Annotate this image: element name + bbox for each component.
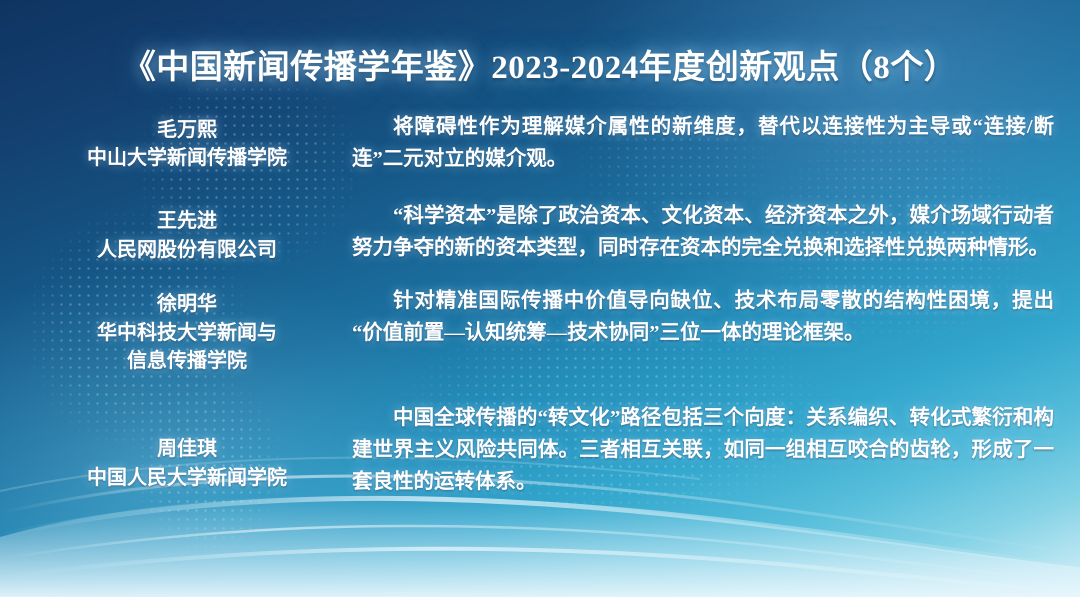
entry-row: 毛万熙 中山大学新闻传播学院 将障碍性作为理解媒介属性的新维度，替代以连接性为主… — [22, 112, 1054, 175]
entries-list: 毛万熙 中山大学新闻传播学院 将障碍性作为理解媒介属性的新维度，替代以连接性为主… — [0, 112, 1080, 504]
author-name: 王先进 — [22, 207, 352, 235]
author-name: 毛万熙 — [22, 116, 352, 144]
author-block: 徐明华 华中科技大学新闻与 信息传播学院 — [22, 286, 352, 375]
viewpoint-text: 将障碍性作为理解媒介属性的新维度，替代以连接性为主导或“连接/断连”二元对立的媒… — [352, 112, 1054, 175]
author-name: 徐明华 — [22, 290, 352, 318]
author-block: 周佳琪 中国人民大学新闻学院 — [22, 403, 352, 492]
author-block: 毛万熙 中山大学新闻传播学院 — [22, 112, 352, 173]
slide-title: 《中国新闻传播学年鉴》2023-2024年度创新观点（8个） — [0, 40, 1080, 88]
author-affiliation: 中山大学新闻传播学院 — [22, 144, 352, 172]
author-affiliation: 信息传播学院 — [22, 347, 352, 375]
entry-row: 徐明华 华中科技大学新闻与 信息传播学院 针对精准国际传播中价值导向缺位、技术布… — [22, 286, 1054, 375]
author-affiliation: 中国人民大学新闻学院 — [22, 464, 352, 492]
entry-row: 周佳琪 中国人民大学新闻学院 中国全球传播的“转文化”路径包括三个向度：关系编织… — [22, 403, 1054, 498]
author-affiliation: 人民网股份有限公司 — [22, 236, 352, 264]
viewpoint-text: 针对精准国际传播中价值导向缺位、技术布局零散的结构性困境，提出“价值前置—认知统… — [352, 286, 1054, 349]
author-block: 王先进 人民网股份有限公司 — [22, 201, 352, 264]
presentation-slide: 《中国新闻传播学年鉴》2023-2024年度创新观点（8个） 毛万熙 中山大学新… — [0, 0, 1080, 597]
author-affiliation: 华中科技大学新闻与 — [22, 319, 352, 347]
author-name: 周佳琪 — [22, 435, 352, 463]
viewpoint-text: 中国全球传播的“转文化”路径包括三个向度：关系编织、转化式繁衍和构建世界主义风险… — [352, 403, 1054, 498]
viewpoint-text: “科学资本”是除了政治资本、文化资本、经济资本之外，媒介场域行动者努力争夺的新的… — [352, 201, 1054, 264]
entry-row: 王先进 人民网股份有限公司 “科学资本”是除了政治资本、文化资本、经济资本之外，… — [22, 201, 1054, 264]
